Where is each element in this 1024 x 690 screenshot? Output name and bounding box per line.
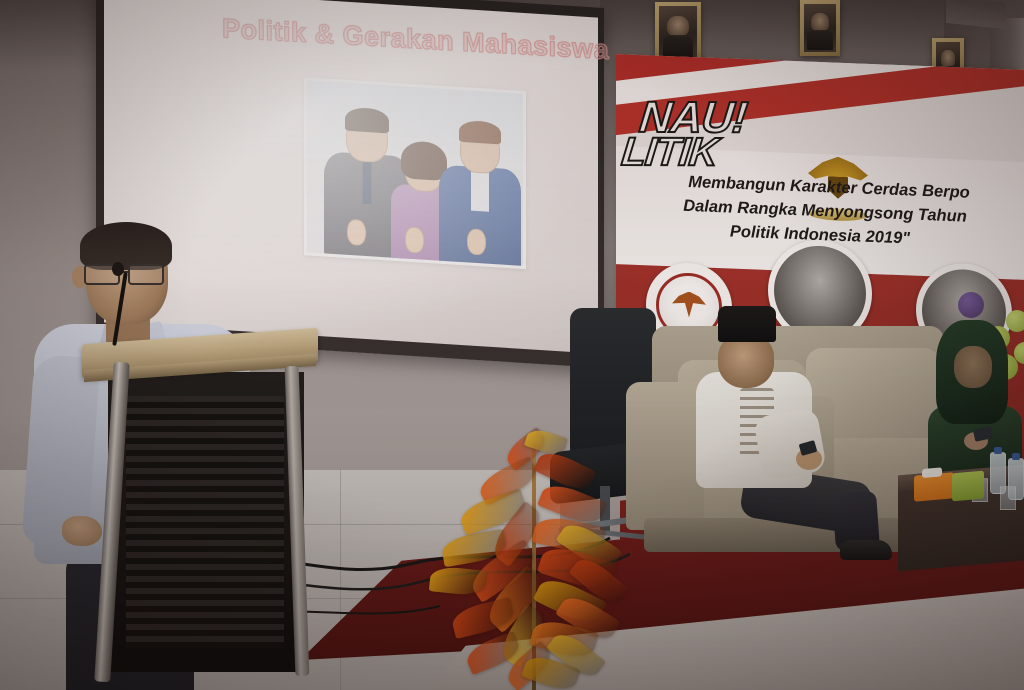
portrait-president xyxy=(655,2,701,64)
panelist-with-peci xyxy=(688,306,868,562)
banner-headline-line2: LITIK xyxy=(619,130,719,175)
glasses-lens xyxy=(128,264,164,285)
thumbs-up-hand xyxy=(467,228,486,255)
thumbs-up-hand xyxy=(405,226,424,253)
slide-illustration xyxy=(304,77,526,269)
portrait-face xyxy=(941,50,954,68)
cartoon-shirt xyxy=(471,171,489,212)
panelist-head xyxy=(718,334,774,388)
cartoon-hair xyxy=(459,120,501,145)
speaker-hair xyxy=(80,222,172,270)
portrait-body xyxy=(807,30,833,50)
photo-scene: Politik & Gerakan Mahasiswa xyxy=(0,0,1024,690)
portrait-face xyxy=(811,13,829,32)
cartoon-hair xyxy=(345,107,389,134)
peci-cap xyxy=(718,306,776,342)
cartoon-tie xyxy=(363,160,372,205)
panelist-shoe xyxy=(840,540,892,560)
portrait-inner xyxy=(659,6,697,60)
podium-louvers xyxy=(126,396,284,648)
drinking-glass xyxy=(1000,486,1016,510)
woman-face xyxy=(954,346,992,388)
bottle-cap xyxy=(1012,453,1020,460)
panelist-arm xyxy=(753,407,827,481)
purple-decor-ball xyxy=(958,292,984,318)
thumbs-up-hand xyxy=(347,219,366,246)
tissue-box xyxy=(914,472,954,501)
bottle-cap xyxy=(994,447,1002,454)
cartoon-man-blue-suit xyxy=(437,112,523,265)
portrait-face xyxy=(667,16,688,38)
green-box xyxy=(952,471,984,502)
portrait-inner xyxy=(804,4,836,52)
tissue-sheet xyxy=(922,467,942,478)
microphone-head xyxy=(112,262,124,276)
podium xyxy=(82,336,318,690)
portrait-body xyxy=(663,35,693,58)
portrait-garuda-emblem xyxy=(800,0,840,56)
foreground-plant xyxy=(408,428,658,690)
slide-title: Politik & Gerakan Mahasiswa xyxy=(222,13,609,66)
